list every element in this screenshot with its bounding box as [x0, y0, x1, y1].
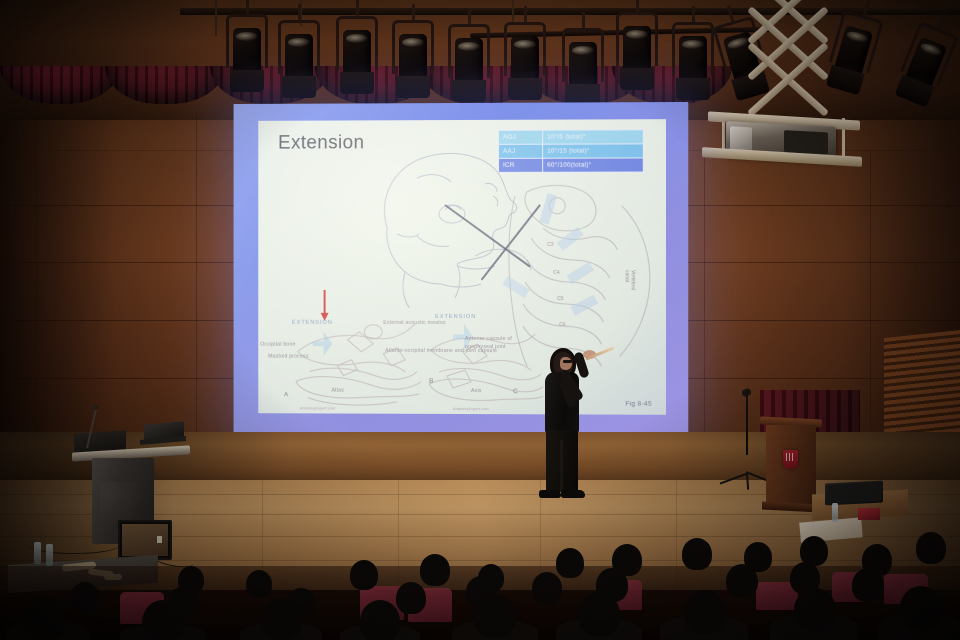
axis-label: Axis — [471, 388, 482, 394]
audience-head — [900, 586, 942, 630]
table-cell-value: 60°/100(total)° — [543, 158, 644, 172]
scissor-mechanism — [736, 0, 832, 118]
wooden-podium — [766, 418, 816, 512]
audience-head — [726, 564, 758, 598]
occipital-bone-label: Occipital bone — [260, 342, 295, 348]
audience-head — [396, 582, 426, 614]
presenter-glasses — [563, 360, 572, 363]
wall-joint — [870, 150, 871, 440]
audience-head — [684, 590, 726, 634]
illustration-credit-right: AnatomyExpert.com — [453, 407, 489, 411]
audience-head — [682, 538, 712, 570]
audience-head — [556, 548, 584, 578]
audience-head — [852, 568, 884, 602]
audience-head — [794, 588, 836, 632]
atlas-label: Atlas — [332, 388, 344, 394]
wall-joint — [36, 110, 37, 440]
audience-head — [420, 554, 450, 586]
audience-head — [262, 598, 302, 640]
audience — [0, 520, 960, 640]
stage-light-fixture — [508, 22, 542, 100]
auditorium-photo: Extension AOJ 10°/5 (total)° AAJ 10°/15 … — [0, 0, 960, 640]
lectern-laptop — [140, 424, 184, 444]
audience-head — [246, 570, 272, 598]
rigging-cable — [215, 0, 217, 36]
rigging-cable — [512, 0, 514, 22]
university-crest-icon — [783, 450, 798, 469]
presenter-shoe — [561, 490, 585, 498]
audience-head — [360, 600, 400, 640]
vertebra-label-c6: C6 — [559, 322, 565, 328]
vertebra-label-c5: C5 — [557, 296, 563, 302]
wall-joint — [196, 110, 197, 440]
stage-light-fixture — [282, 20, 316, 98]
audience-head — [578, 592, 620, 636]
stage-light-fixture — [566, 28, 600, 106]
projector-scissor-lift — [708, 0, 860, 172]
curtain-swag — [105, 66, 225, 104]
extension-label-b: EXTENSION — [435, 314, 476, 320]
wall-joint — [704, 150, 705, 440]
audience-head — [474, 594, 516, 638]
slide-title: Extension — [278, 132, 364, 154]
vertebra-label-c3: C3 — [547, 242, 553, 248]
presenter-face — [560, 357, 572, 370]
stage-light-fixture — [620, 12, 654, 90]
projection-screen: Extension AOJ 10°/5 (total)° AAJ 10°/15 … — [234, 102, 689, 437]
panel-b-illustration — [423, 316, 543, 408]
panel-letter-c: C — [513, 388, 518, 395]
audience-head — [350, 560, 378, 590]
panel-letter-b: B — [429, 378, 433, 385]
red-case-on-table — [858, 508, 880, 520]
curtain-swag — [0, 66, 120, 104]
stage-light-fixture — [676, 22, 710, 100]
audience-head — [70, 582, 100, 614]
illustration-credit-left: AnatomyExpert.com — [300, 406, 335, 410]
audience-head — [532, 572, 562, 604]
table-cell-value: 10°/15 (total)° — [543, 144, 644, 158]
vertebra-label-c4: C4 — [553, 270, 559, 276]
panel-letter-a: A — [284, 391, 288, 398]
audience-head — [24, 596, 66, 640]
stage-light-fixture — [340, 16, 374, 94]
presenter-shoe — [539, 490, 561, 498]
presenter — [533, 344, 593, 500]
figure-caption: Fig 8-45 — [625, 401, 651, 408]
audience-head — [142, 600, 184, 640]
mastoid-process-label: Mastoid process — [268, 354, 308, 360]
presentation-slide: Extension AOJ 10°/5 (total)° AAJ 10°/15 … — [258, 119, 666, 415]
vertebral-canal-label: Vertebral canal — [624, 270, 636, 300]
lectern-microphone-head — [93, 405, 98, 410]
extension-label-a: EXTENSION — [292, 320, 333, 326]
table-cell-value: 10°/5 (total)° — [543, 130, 644, 144]
anterior-capsule-label: Anterior capsule of apophyseal joint — [465, 336, 525, 352]
stage-light-fixture — [396, 20, 430, 98]
stage-light-fixture — [230, 14, 264, 92]
audience-head — [916, 532, 946, 564]
stage-light-fixture — [452, 24, 486, 102]
